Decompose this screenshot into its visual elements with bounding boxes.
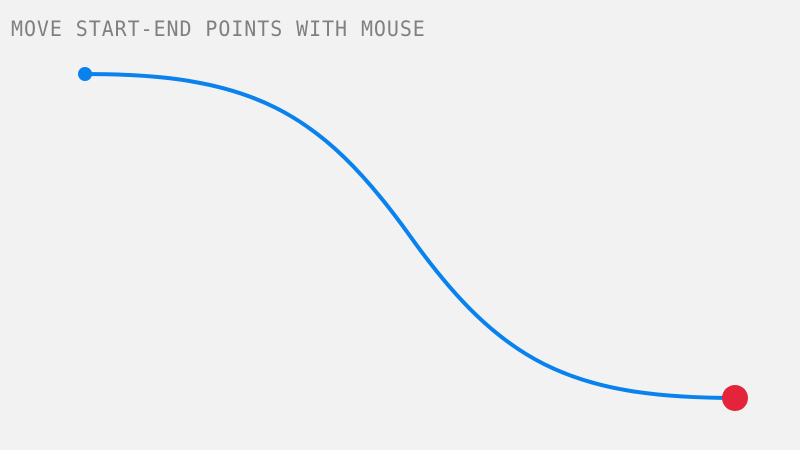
page-title: MOVE START-END POINTS WITH MOUSE <box>11 16 426 42</box>
bezier-curve <box>85 74 735 398</box>
curve-vector-layer <box>0 0 800 450</box>
curve-canvas[interactable]: MOVE START-END POINTS WITH MOUSE <box>0 0 800 450</box>
end-point-handle[interactable] <box>722 385 748 411</box>
start-point-handle[interactable] <box>78 67 92 81</box>
app-root: MOVE START-END POINTS WITH MOUSE <box>0 0 800 450</box>
